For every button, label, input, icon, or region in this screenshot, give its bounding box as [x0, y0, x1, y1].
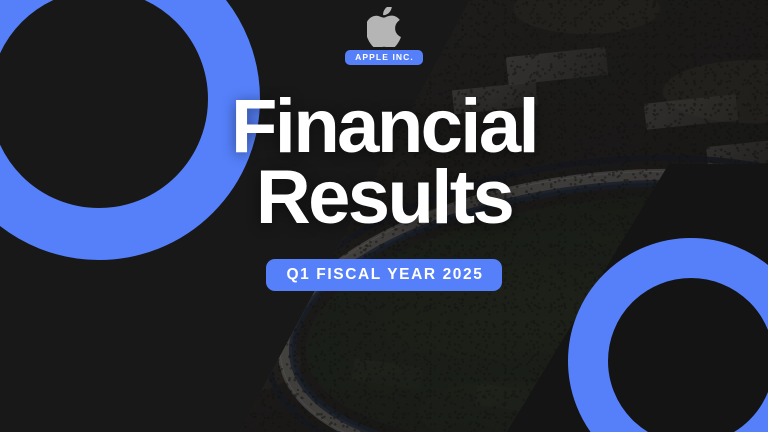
page-title-line-2: Results: [231, 162, 537, 233]
slide-content: APPLE INC. Financial Results Q1 FISCAL Y…: [0, 0, 768, 432]
apple-logo-icon: [367, 7, 401, 47]
fiscal-period-badge: Q1 FISCAL YEAR 2025: [266, 259, 503, 291]
presentation-slide: APPLE INC. Financial Results Q1 FISCAL Y…: [0, 0, 768, 432]
brand-badge: APPLE INC.: [345, 50, 423, 65]
brand-lockup: APPLE INC.: [345, 7, 423, 65]
page-title: Financial Results: [231, 91, 537, 234]
page-title-line-1: Financial: [231, 91, 537, 162]
